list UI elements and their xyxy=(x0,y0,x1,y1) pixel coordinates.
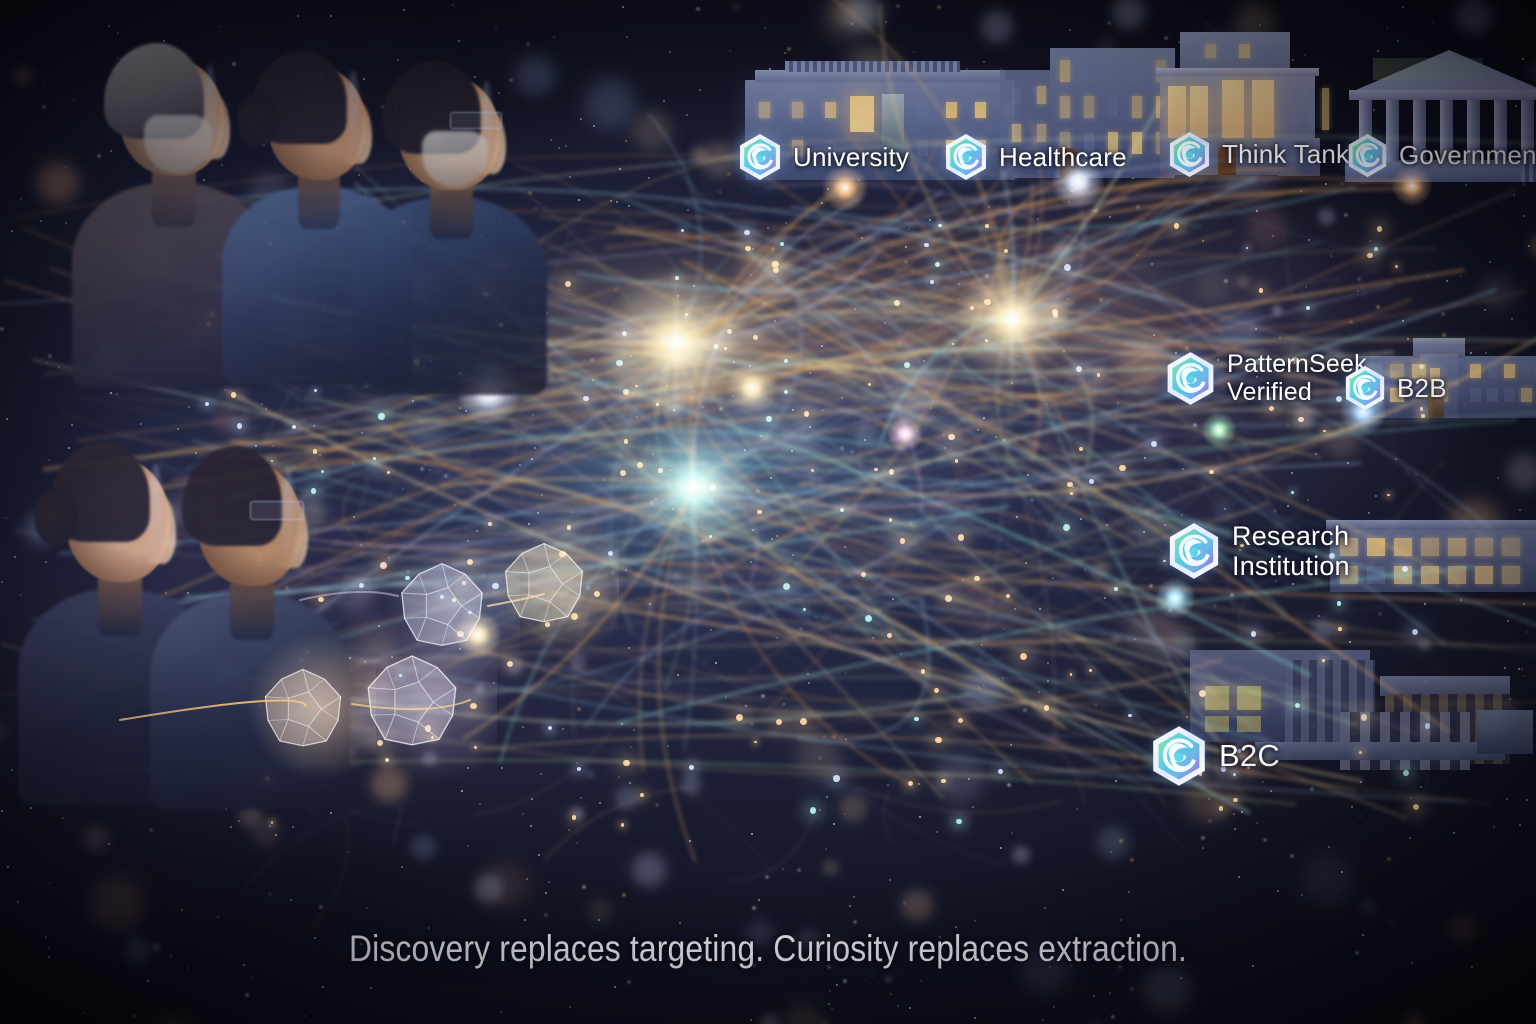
logo-core-dot xyxy=(1186,152,1193,159)
logo-core-dot xyxy=(1190,548,1199,557)
patternseek-logo-icon xyxy=(1166,131,1213,178)
patternseek-logo-icon xyxy=(1342,365,1388,411)
badge-university[interactable]: University xyxy=(736,133,909,181)
patternseek-logo-icon xyxy=(736,133,784,181)
logo-core-dot xyxy=(1174,753,1183,762)
logo-core-dot xyxy=(962,154,969,161)
badge-label-government: Governmenit xyxy=(1399,141,1536,169)
badge-label-b2b: B2B xyxy=(1397,374,1447,402)
patternseek-logo-icon xyxy=(1165,522,1223,580)
badge-b2c[interactable]: B2C xyxy=(1148,725,1280,787)
badge-b2b[interactable]: B2B xyxy=(1342,365,1447,411)
scene-root: UniversityHealthcareThink TankGovernmeni… xyxy=(0,0,1536,1024)
logo-core-dot xyxy=(1362,385,1369,392)
logo-core-dot xyxy=(1364,153,1371,160)
badge-label-b2c: B2C xyxy=(1219,739,1280,772)
badge-label-university: University xyxy=(793,143,909,171)
badge-government[interactable]: Governmenit xyxy=(1345,133,1536,178)
patternseek-logo-icon xyxy=(1345,133,1390,178)
patternseek-logo-icon xyxy=(1148,725,1210,787)
badge-think-tank[interactable]: Think Tank xyxy=(1166,131,1349,178)
logo-core-dot xyxy=(756,154,763,161)
badge-label-research-institution: Research Institution xyxy=(1232,521,1350,581)
patternseek-logo-icon xyxy=(1163,351,1218,406)
badges-layer: UniversityHealthcareThink TankGovernmeni… xyxy=(0,0,1536,1024)
patternseek-logo-icon xyxy=(942,133,990,181)
logo-core-dot xyxy=(1186,375,1194,383)
badge-label-think-tank: Think Tank xyxy=(1222,140,1349,168)
badge-patternseek-verified[interactable]: PatternSeek Verified xyxy=(1163,350,1367,406)
badge-label-healthcare: Healthcare xyxy=(999,143,1127,171)
badge-healthcare[interactable]: Healthcare xyxy=(942,133,1127,181)
caption-text: Discovery replaces targeting. Curiosity … xyxy=(108,928,1429,970)
badge-research-institution[interactable]: Research Institution xyxy=(1165,521,1350,581)
